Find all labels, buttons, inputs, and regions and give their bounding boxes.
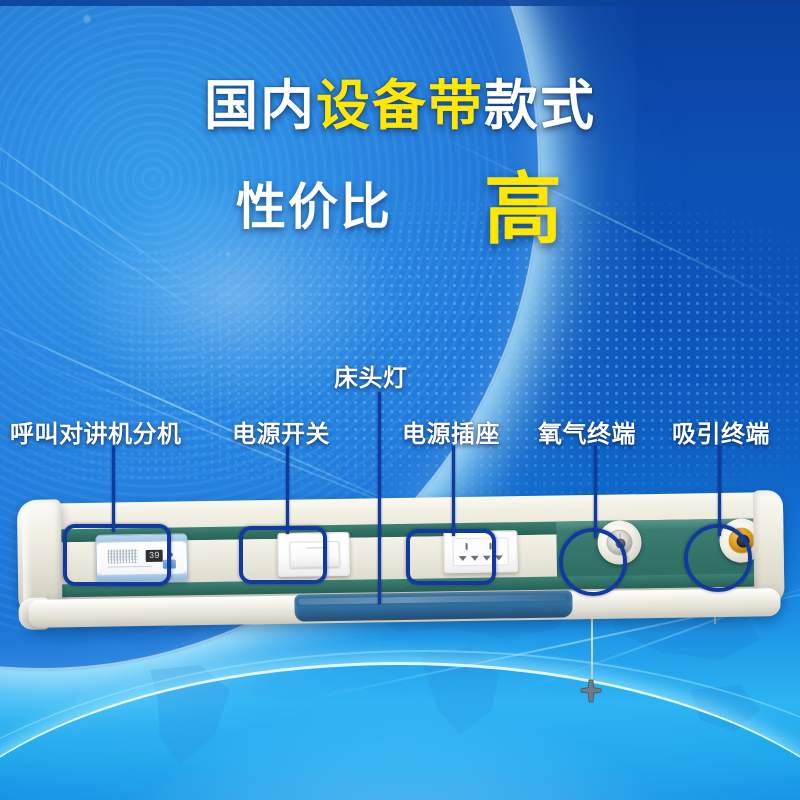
headline-line2-text: 性价比	[236, 179, 392, 235]
headline-line1-highlight: 设备带	[316, 76, 484, 136]
leader-line-power-switch	[286, 446, 289, 534]
callout-label-oxygen: 氧气终端	[538, 414, 636, 449]
leader-line-oxygen	[594, 446, 597, 538]
callout-label-intercom: 呼叫对讲机分机	[10, 414, 182, 449]
leader-line-suction	[718, 446, 721, 536]
callout-label-power-socket: 电源插座	[402, 414, 500, 449]
leader-line-power-socket	[452, 446, 455, 536]
leader-line-bed-lamp	[378, 392, 381, 604]
headline-line2-emphasis: 高	[484, 165, 564, 253]
callout-label-bed-lamp: 床头灯	[334, 358, 408, 393]
headline-line1-part1: 国内	[204, 76, 316, 136]
callout-label-power-switch: 电源开关	[232, 414, 330, 449]
headline-line1-part2: 款式	[484, 76, 596, 136]
headline-block: 国内设备带款式 性价比高	[0, 78, 800, 259]
headline-line-1: 国内设备带款式	[0, 78, 800, 135]
headline-line-2: 性价比高	[0, 147, 800, 259]
product-banner: 国内设备带款式 性价比高 呼叫对讲机分机 电源开关 床头灯 电源插座 氧气终端 …	[0, 0, 800, 800]
leader-line-intercom	[112, 446, 115, 532]
callout-label-suction: 吸引终端	[672, 414, 770, 449]
